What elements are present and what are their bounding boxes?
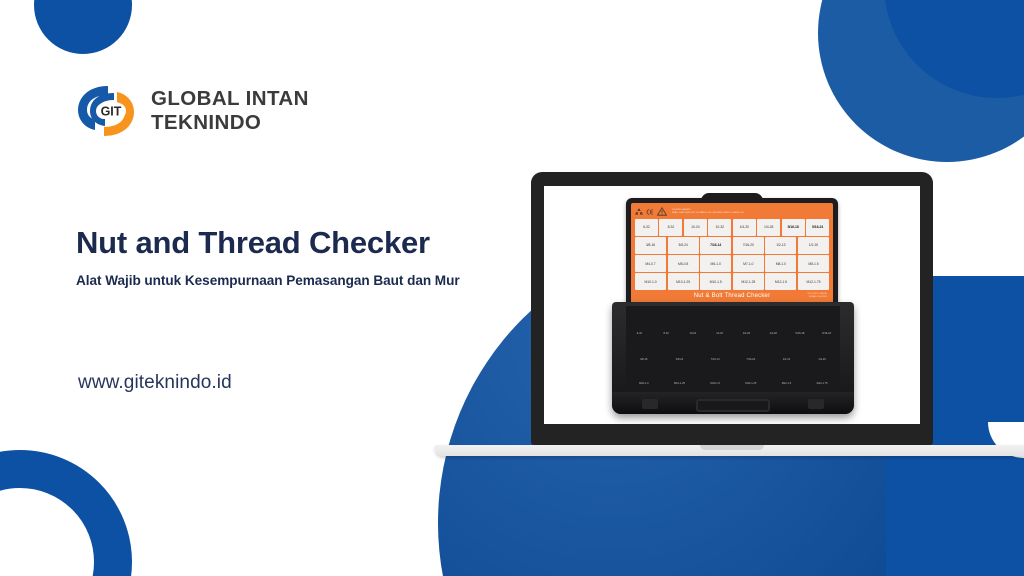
laptop-screen: CHOKING HAZARD SMALL PARTS AND NOT SUITA… — [544, 186, 920, 424]
thread-size-chart: 6-32 8-32 10-24 10-32 1/4-20 1/4-28 5/16… — [635, 219, 829, 290]
recycle-icon — [635, 208, 643, 216]
bolt-caption: 10-32 — [716, 332, 723, 335]
size-cell: 3/8-24 — [668, 237, 699, 254]
brand-logo[interactable]: GIT GLOBAL INTAN TEKNINDO — [74, 80, 309, 142]
footer-note-line-2: THREAD CHECKER — [808, 296, 827, 299]
bolt-caption: 1/2-20 — [818, 358, 825, 361]
bolt-caption: 7/16-20 — [746, 358, 755, 361]
product-photo: CHOKING HAZARD SMALL PARTS AND NOT SUITA… — [602, 190, 862, 422]
bolt-caption: M10-1.0 — [639, 382, 649, 385]
size-cell: M6-1.0 — [700, 255, 731, 272]
website-url[interactable]: www.giteknindo.id — [78, 372, 232, 394]
decorative-half-circle-top — [34, 0, 132, 54]
size-cell: M10-1.0 — [635, 273, 666, 290]
size-cell: M12-1.5 — [765, 273, 796, 290]
laptop-trackpad-notch — [700, 445, 764, 450]
headline-block: Nut and Thread Checker Alat Wajib untuk … — [76, 225, 460, 288]
brand-name-line-1: GLOBAL INTAN — [151, 87, 309, 111]
case-bottom-tray: 6-32 8-32 10-24 10-32 1/4-20 1/4-28 5/16… — [612, 302, 854, 414]
page-title: Nut and Thread Checker — [76, 225, 460, 261]
table-row: M10-1.0 M10-1.25 M10-1.5 M12-1.25 M12-1.… — [635, 273, 829, 290]
size-cell: 7/16-14 — [700, 237, 731, 254]
decorative-ring-bottom-left — [0, 450, 132, 576]
size-cell: M12-1.75 — [798, 273, 829, 290]
bolt-caption: M12-1.5 — [782, 382, 792, 385]
bolt-caption: 5/16-24 — [822, 332, 831, 335]
product-label-title: Nut & Bolt Thread Checker — [694, 293, 771, 299]
page-subtitle: Alat Wajib untuk Kesempurnaan Pemasangan… — [76, 273, 460, 288]
size-cell: 1/4-20 — [733, 219, 756, 236]
warning-triangle-icon — [657, 207, 667, 216]
size-cell: 1/2-20 — [798, 237, 829, 254]
size-cell: M8-1.5 — [798, 255, 829, 272]
size-cell: 5/16-18 — [782, 219, 805, 236]
label-warning-row: CHOKING HAZARD SMALL PARTS AND NOT SUITA… — [635, 206, 829, 217]
size-cell: 6-32 — [635, 219, 658, 236]
size-cell: M12-1.25 — [733, 273, 764, 290]
size-cell: 8-32 — [659, 219, 682, 236]
size-cell: M5-0.8 — [668, 255, 699, 272]
bolt-caption: M10-1.25 — [674, 382, 685, 385]
case-latch-left — [642, 399, 658, 409]
laptop-base — [435, 445, 1024, 456]
decorative-circle-top-right-light — [818, 0, 1024, 162]
case-latch-bar — [612, 392, 854, 414]
label-warning-text: CHOKING HAZARD SMALL PARTS AND NOT SUITA… — [672, 209, 744, 214]
laptop-lid: CHOKING HAZARD SMALL PARTS AND NOT SUITA… — [531, 172, 933, 445]
size-cell: 5/16-24 — [806, 219, 829, 236]
bolt-caption: M12-1.75 — [817, 382, 828, 385]
size-cell: 10-32 — [708, 219, 731, 236]
size-cell: M7-1.0 — [733, 255, 764, 272]
case-lid: CHOKING HAZARD SMALL PARTS AND NOT SUITA… — [626, 198, 838, 310]
table-row: 6-32 8-32 10-24 10-32 1/4-20 1/4-28 5/16… — [635, 219, 829, 236]
bolt-caption: 6-32 — [637, 332, 642, 335]
ce-mark-icon — [646, 208, 654, 216]
case-foam-insert: 6-32 8-32 10-24 10-32 1/4-20 1/4-28 5/16… — [626, 306, 840, 390]
bolt-caption: 8-32 — [664, 332, 669, 335]
bolt-caption: 7/16-14 — [711, 358, 720, 361]
size-cell: 1/4-28 — [757, 219, 780, 236]
bolt-caption: 1/2-13 — [783, 358, 790, 361]
brand-name-line-2: TEKNINDO — [151, 111, 309, 135]
product-label-panel: CHOKING HAZARD SMALL PARTS AND NOT SUITA… — [631, 203, 833, 305]
bolt-caption: 1/4-28 — [769, 332, 776, 335]
size-cell: 7/16-20 — [733, 237, 764, 254]
bolt-caption: 3/8-16 — [640, 358, 647, 361]
case-latch-right — [808, 399, 824, 409]
size-cell: 10-24 — [684, 219, 707, 236]
bolt-caption: 3/8-24 — [676, 358, 683, 361]
decorative-circle-top-right-dark — [884, 0, 1024, 98]
size-cell: 1/2-13 — [765, 237, 796, 254]
bolt-caption: M12-1.25 — [745, 382, 756, 385]
brand-wordmark: GLOBAL INTAN TEKNINDO — [151, 87, 309, 135]
logo-mark-text: GIT — [101, 104, 122, 118]
warning-line-2: SMALL PARTS AND NOT SUITABLE FOR CHILDRE… — [672, 212, 744, 214]
size-cell: M8-1.0 — [765, 255, 796, 272]
label-footer-note: NUT & BOLT GAUGE THREAD CHECKER — [808, 293, 827, 298]
laptop-mockup: CHOKING HAZARD SMALL PARTS AND NOT SUITA… — [531, 172, 933, 456]
label-footer: Nut & Bolt Thread Checker NUT & BOLT GAU… — [635, 290, 829, 302]
bolt-caption: 10-24 — [690, 332, 697, 335]
size-cell: M10-1.5 — [700, 273, 731, 290]
size-cell: M10-1.25 — [668, 273, 699, 290]
case-carry-handle — [696, 399, 770, 412]
table-row: M4-0.7 M5-0.8 M6-1.0 M7-1.0 M8-1.0 M8-1.… — [635, 255, 829, 272]
git-swirl-logo-icon: GIT — [74, 80, 138, 142]
bolt-caption: 1/4-20 — [743, 332, 750, 335]
bolt-caption: M10-1.5 — [710, 382, 720, 385]
size-cell: 3/8-16 — [635, 237, 666, 254]
bolt-caption: 5/16-18 — [795, 332, 804, 335]
table-row: 3/8-16 3/8-24 7/16-14 7/16-20 1/2-13 1/2… — [635, 237, 829, 254]
size-cell: M4-0.7 — [635, 255, 666, 272]
